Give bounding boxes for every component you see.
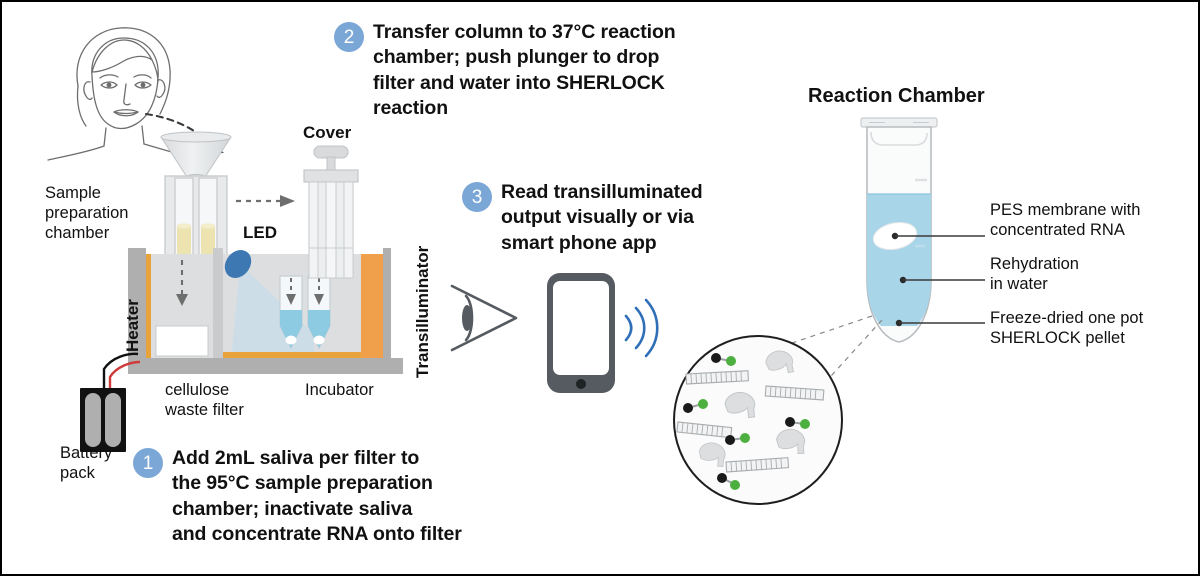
label-transilluminator: Transilluminator (412, 246, 433, 378)
label-cover: Cover (303, 122, 351, 143)
wifi-signal-icon (620, 292, 662, 364)
battery-pack (60, 345, 180, 445)
molecular-zoom-inset (672, 334, 844, 506)
label-cellulose-waste-filter: cellulose waste filter (165, 380, 285, 420)
label-sample-preparation-chamber: Sample preparation chamber (45, 183, 165, 243)
transfer-arrow (236, 192, 298, 210)
step-1-badge: 1 (133, 448, 163, 478)
step-2-callout: 2 Transfer column to 37°C reaction chamb… (334, 20, 724, 121)
step-3-callout: 3 Read transilluminated output visually … (462, 180, 752, 256)
smartphone[interactable] (546, 272, 616, 394)
callout-rehydration: Rehydration in water (990, 254, 1180, 294)
diagram-stage: Sample preparation chamber Cover (0, 0, 1200, 576)
step-1-text: Add 2mL saliva per filter to the 95°C sa… (172, 446, 462, 547)
callout-sherlock-pellet: Freeze-dried one pot SHERLOCK pellet (990, 308, 1190, 348)
step-2-text: Transfer column to 37°C reaction chamber… (373, 20, 676, 121)
callout-pes-membrane: PES membrane with concentrated RNA (990, 200, 1180, 240)
inserted-column-in-incubator (296, 248, 366, 288)
label-incubator: Incubator (305, 380, 374, 400)
step-3-badge: 3 (462, 182, 492, 212)
step-1-callout: 1 Add 2mL saliva per filter to the 95°C … (133, 446, 533, 547)
step-2-badge: 2 (334, 22, 364, 52)
eye-icon (446, 278, 526, 358)
reaction-chamber-title: Reaction Chamber (808, 85, 985, 108)
label-led: LED (243, 222, 277, 243)
step-3-text: Read transilluminated output visually or… (501, 180, 703, 256)
